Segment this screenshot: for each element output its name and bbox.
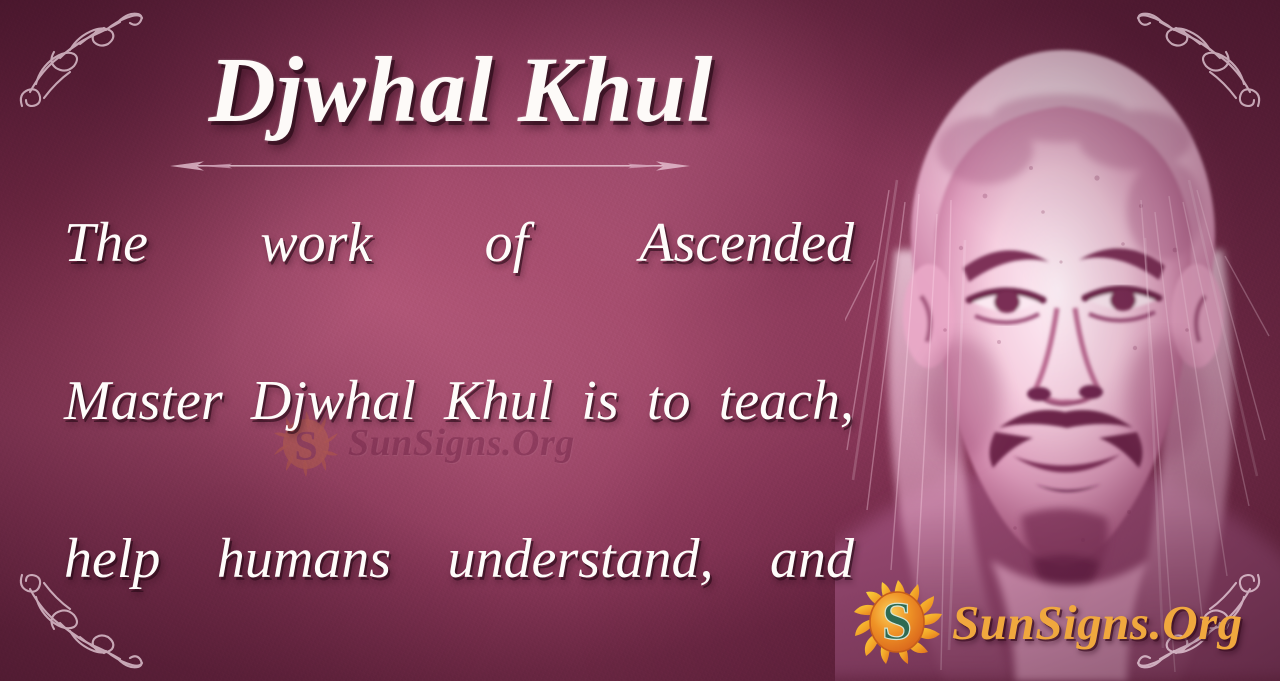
quote-line: help humans understand, and <box>64 520 854 678</box>
quote-text: The work of Ascended Master Djwhal Khul … <box>64 204 854 681</box>
logo-letter-s: S <box>882 591 912 651</box>
page-title: Djwhal Khul <box>66 42 856 140</box>
sunsigns-logo[interactable]: S SunSigns.Org <box>852 578 1243 666</box>
logo-text: SunSigns.Org <box>952 594 1243 651</box>
quote-graphic-canvas: Djwhal Khul S <box>0 0 1280 681</box>
quote-line: The work of Ascended <box>64 204 854 362</box>
sun-logo-icon: S <box>852 578 944 666</box>
quote-line: Master Djwhal Khul is to teach, <box>64 362 854 520</box>
